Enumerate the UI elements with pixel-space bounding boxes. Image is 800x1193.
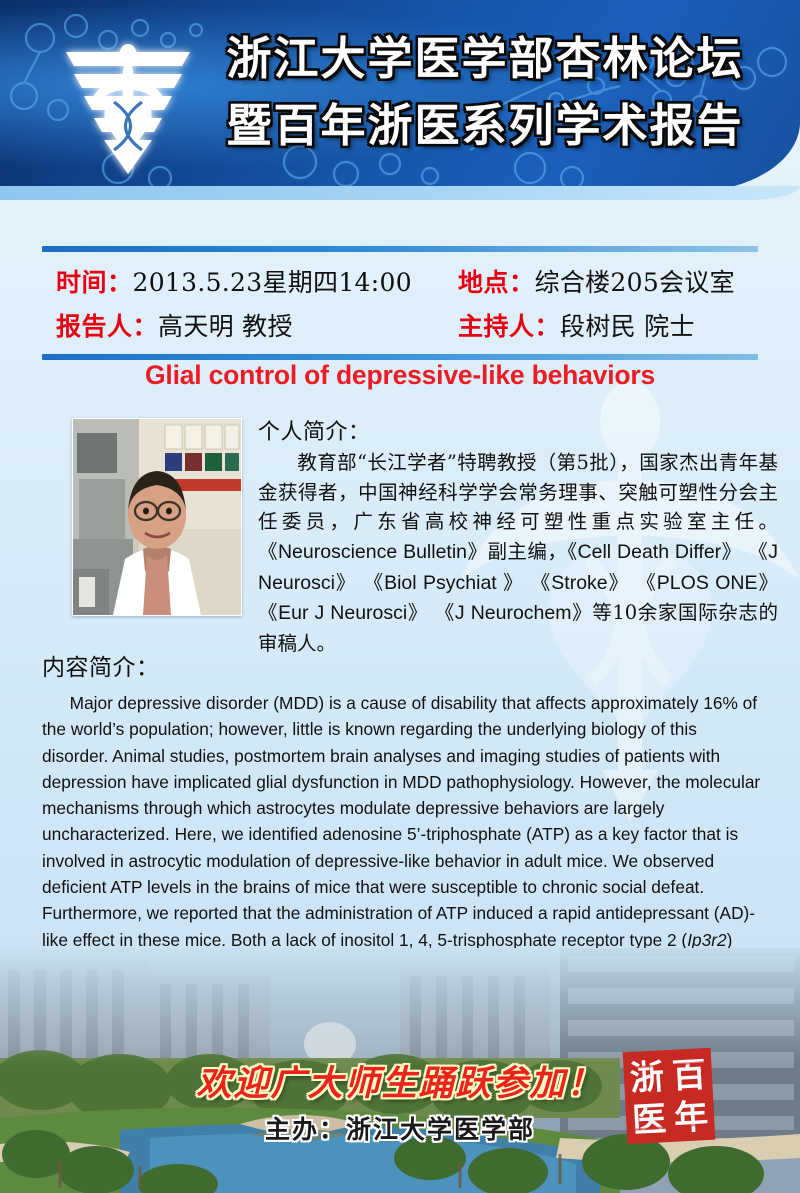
header-accent-strip [0,186,800,200]
red-seal-stamp: 浙 百 医 年 [621,1046,718,1147]
poster-root: 浙江大学医学部杏林论坛 暨百年浙医系列学术报告 时间： 2013.5.23星期四… [0,0,800,1193]
host-value: 段树民 院士 [560,307,695,343]
info-row-time-place: 时间： 2013.5.23星期四14:00 地点： 综合楼205会议室 [42,260,758,304]
talk-title: Glial control of depressive-like behavio… [0,360,800,391]
abstract-heading: 内容简介： [42,648,160,682]
speaker-photo [72,418,242,616]
bio-body: 教育部“长江学者”特聘教授（第5批），国家杰出青年基金获得者，中国神经科学学会常… [258,448,778,658]
place-value: 综合楼205会议室 [535,263,735,299]
bio-journal-4: 《Biol Psychiat 》 [364,572,524,594]
bio-journal-1: 《Neuroscience Bulletin》 [258,541,487,563]
place-label: 地点： [458,263,535,299]
bio-paragraph-1: 教育部“长江学者”特聘教授（第5批），国家杰出青年基金获得者，中国神经科学学会常… [258,451,778,533]
info-cell-time: 时间： 2013.5.23星期四14:00 [42,263,456,299]
svg-text:浙: 浙 [629,1057,665,1099]
speaker-portrait-image [73,419,241,615]
bio-journal-6: 《PLOS ONE》 [636,572,778,594]
header-title-line-2: 暨百年浙医系列学术报告 [205,93,765,160]
event-info-block: 时间： 2013.5.23星期四14:00 地点： 综合楼205会议室 报告人：… [42,246,758,360]
bio-journal-8: 《J Neurochem》 [435,602,592,624]
bio-journal-5: 《Stroke》 [531,572,629,594]
time-value: 2013.5.23星期四14:00 [133,263,412,299]
abstract-part-1: Major depressive disorder (MDD) is a cau… [42,693,760,950]
header-titles: 浙江大学医学部杏林论坛 暨百年浙医系列学术报告 [205,26,765,159]
svg-text:医: 医 [631,1099,667,1141]
speaker-label: 报告人： [56,307,158,343]
time-label: 时间： [56,263,133,299]
caduceus-logo-icon [52,22,204,192]
svg-text:年: 年 [673,1097,709,1139]
info-cell-host: 主持人： 段树民 院士 [456,307,695,343]
header-title-line-1: 浙江大学医学部杏林论坛 [205,26,765,93]
host-label: 主持人： [458,307,560,343]
info-cell-place: 地点： 综合楼205会议室 [456,263,735,299]
speaker-bio: 个人简介： 教育部“长江学者”特聘教授（第5批），国家杰出青年基金获得者，中国神… [258,414,778,658]
organizer-value: 浙江大学医学部 [346,1115,535,1144]
info-cell-speaker: 报告人： 高天明 教授 [42,307,456,343]
bio-journal-7: 《Eur J Neurosci》 [258,602,428,624]
bio-journal-2: 《Cell Death Differ》 [567,541,741,563]
speaker-value: 高天明 教授 [158,307,293,343]
organizer-label: 主办： [265,1115,346,1144]
abstract-gene-name: Ip3r2 [687,930,726,950]
bio-heading: 个人简介： [258,414,778,446]
bio-paragraph-2: 副主编， [487,540,567,563]
header-banner: 浙江大学医学部杏林论坛 暨百年浙医系列学术报告 [0,0,800,192]
info-row-speaker-host: 报告人： 高天明 教授 主持人： 段树民 院士 [42,304,758,348]
